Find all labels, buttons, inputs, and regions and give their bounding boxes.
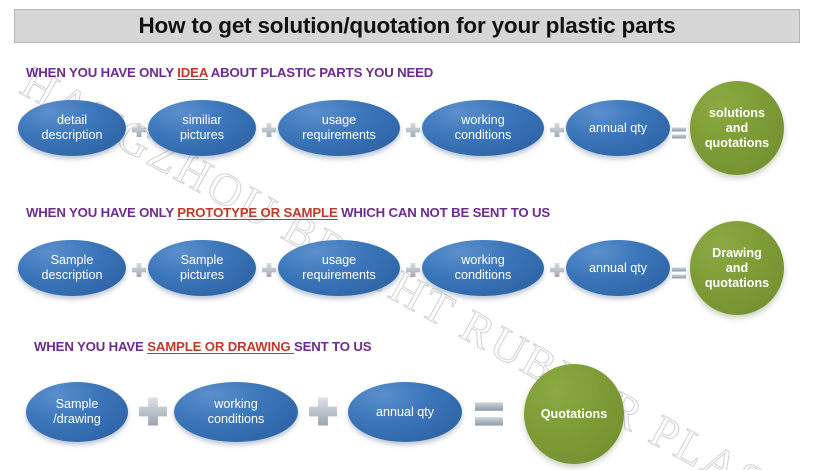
node-label: similiarpictures bbox=[180, 113, 224, 143]
node-sample-pictures[interactable]: Samplepictures bbox=[148, 240, 256, 296]
plus-icon bbox=[404, 262, 422, 280]
node-annual-qty[interactable]: annual qty bbox=[566, 240, 670, 296]
plus-icon bbox=[136, 396, 170, 430]
plus-icon bbox=[548, 122, 566, 140]
node-label: usagerequirements bbox=[302, 113, 376, 143]
plus-icon bbox=[548, 262, 566, 280]
row-3-flow: Sample/drawing workingconditions annual … bbox=[0, 360, 816, 456]
node-quotations[interactable]: Quotations bbox=[524, 364, 624, 464]
node-working-conditions[interactable]: workingconditions bbox=[422, 240, 544, 296]
heading-text: WHICH CAN NOT BE SENT TO US bbox=[338, 205, 550, 220]
node-label: Drawingandquotations bbox=[705, 246, 769, 291]
heading-text: ABOUT PLASTIC PARTS YOU NEED bbox=[208, 65, 433, 80]
heading-highlight: IDEA bbox=[177, 65, 207, 80]
heading-text: WHEN YOU HAVE bbox=[34, 339, 147, 354]
node-label: annual qty bbox=[589, 261, 647, 276]
node-label: Sample/drawing bbox=[53, 397, 101, 427]
row-1-flow: detaildescription similiarpictures usage… bbox=[0, 86, 816, 182]
node-annual-qty[interactable]: annual qty bbox=[348, 382, 462, 442]
node-solutions-and-quotations[interactable]: solutionsandquotations bbox=[690, 81, 784, 175]
node-label: detaildescription bbox=[42, 113, 103, 143]
node-label: Samplepictures bbox=[180, 253, 224, 283]
equals-icon bbox=[672, 266, 686, 280]
node-similiar-pictures[interactable]: similiarpictures bbox=[148, 100, 256, 156]
plus-icon bbox=[306, 396, 340, 430]
node-label: workingconditions bbox=[455, 253, 512, 283]
node-label: annual qty bbox=[376, 405, 434, 420]
plus-icon bbox=[130, 122, 148, 140]
row-3-heading: WHEN YOU HAVE SAMPLE OR DRAWING SENT TO … bbox=[34, 338, 816, 356]
equals-icon bbox=[672, 126, 686, 140]
node-usage-requirements[interactable]: usagerequirements bbox=[278, 100, 400, 156]
heading-highlight: SAMPLE OR DRAWING bbox=[147, 339, 294, 354]
heading-highlight: PROTOTYPE OR SAMPLE bbox=[177, 205, 337, 220]
node-label: solutionsandquotations bbox=[705, 106, 769, 151]
heading-text: WHEN YOU HAVE ONLY bbox=[26, 205, 177, 220]
node-detail-description[interactable]: detaildescription bbox=[18, 100, 126, 156]
node-label: workingconditions bbox=[208, 397, 265, 427]
page-title: How to get solution/quotation for your p… bbox=[138, 13, 675, 39]
node-usage-requirements[interactable]: usagerequirements bbox=[278, 240, 400, 296]
row-2-heading: WHEN YOU HAVE ONLY PROTOTYPE OR SAMPLE W… bbox=[26, 204, 816, 222]
flow-row-idea: WHEN YOU HAVE ONLY IDEA ABOUT PLASTIC PA… bbox=[0, 64, 816, 182]
node-sample-description[interactable]: Sampledescription bbox=[18, 240, 126, 296]
plus-icon bbox=[130, 262, 148, 280]
node-annual-qty[interactable]: annual qty bbox=[566, 100, 670, 156]
flow-row-prototype: WHEN YOU HAVE ONLY PROTOTYPE OR SAMPLE W… bbox=[0, 204, 816, 322]
row-1-heading: WHEN YOU HAVE ONLY IDEA ABOUT PLASTIC PA… bbox=[26, 64, 816, 82]
plus-icon bbox=[404, 122, 422, 140]
plus-icon bbox=[260, 122, 278, 140]
equals-icon bbox=[475, 400, 503, 428]
node-sample-drawing[interactable]: Sample/drawing bbox=[26, 382, 128, 442]
node-label: usagerequirements bbox=[302, 253, 376, 283]
node-working-conditions[interactable]: workingconditions bbox=[422, 100, 544, 156]
node-label: workingconditions bbox=[455, 113, 512, 143]
node-drawing-and-quotations[interactable]: Drawingandquotations bbox=[690, 221, 784, 315]
node-label: Quotations bbox=[541, 407, 607, 422]
flow-row-sample-drawing: WHEN YOU HAVE SAMPLE OR DRAWING SENT TO … bbox=[0, 338, 816, 456]
node-label: Sampledescription bbox=[42, 253, 103, 283]
heading-text: SENT TO US bbox=[294, 339, 371, 354]
node-label: annual qty bbox=[589, 121, 647, 136]
heading-text: WHEN YOU HAVE ONLY bbox=[26, 65, 177, 80]
page-title-box: How to get solution/quotation for your p… bbox=[14, 9, 800, 43]
node-working-conditions[interactable]: workingconditions bbox=[174, 382, 298, 442]
plus-icon bbox=[260, 262, 278, 280]
row-2-flow: Sampledescription Samplepictures usagere… bbox=[0, 226, 816, 322]
